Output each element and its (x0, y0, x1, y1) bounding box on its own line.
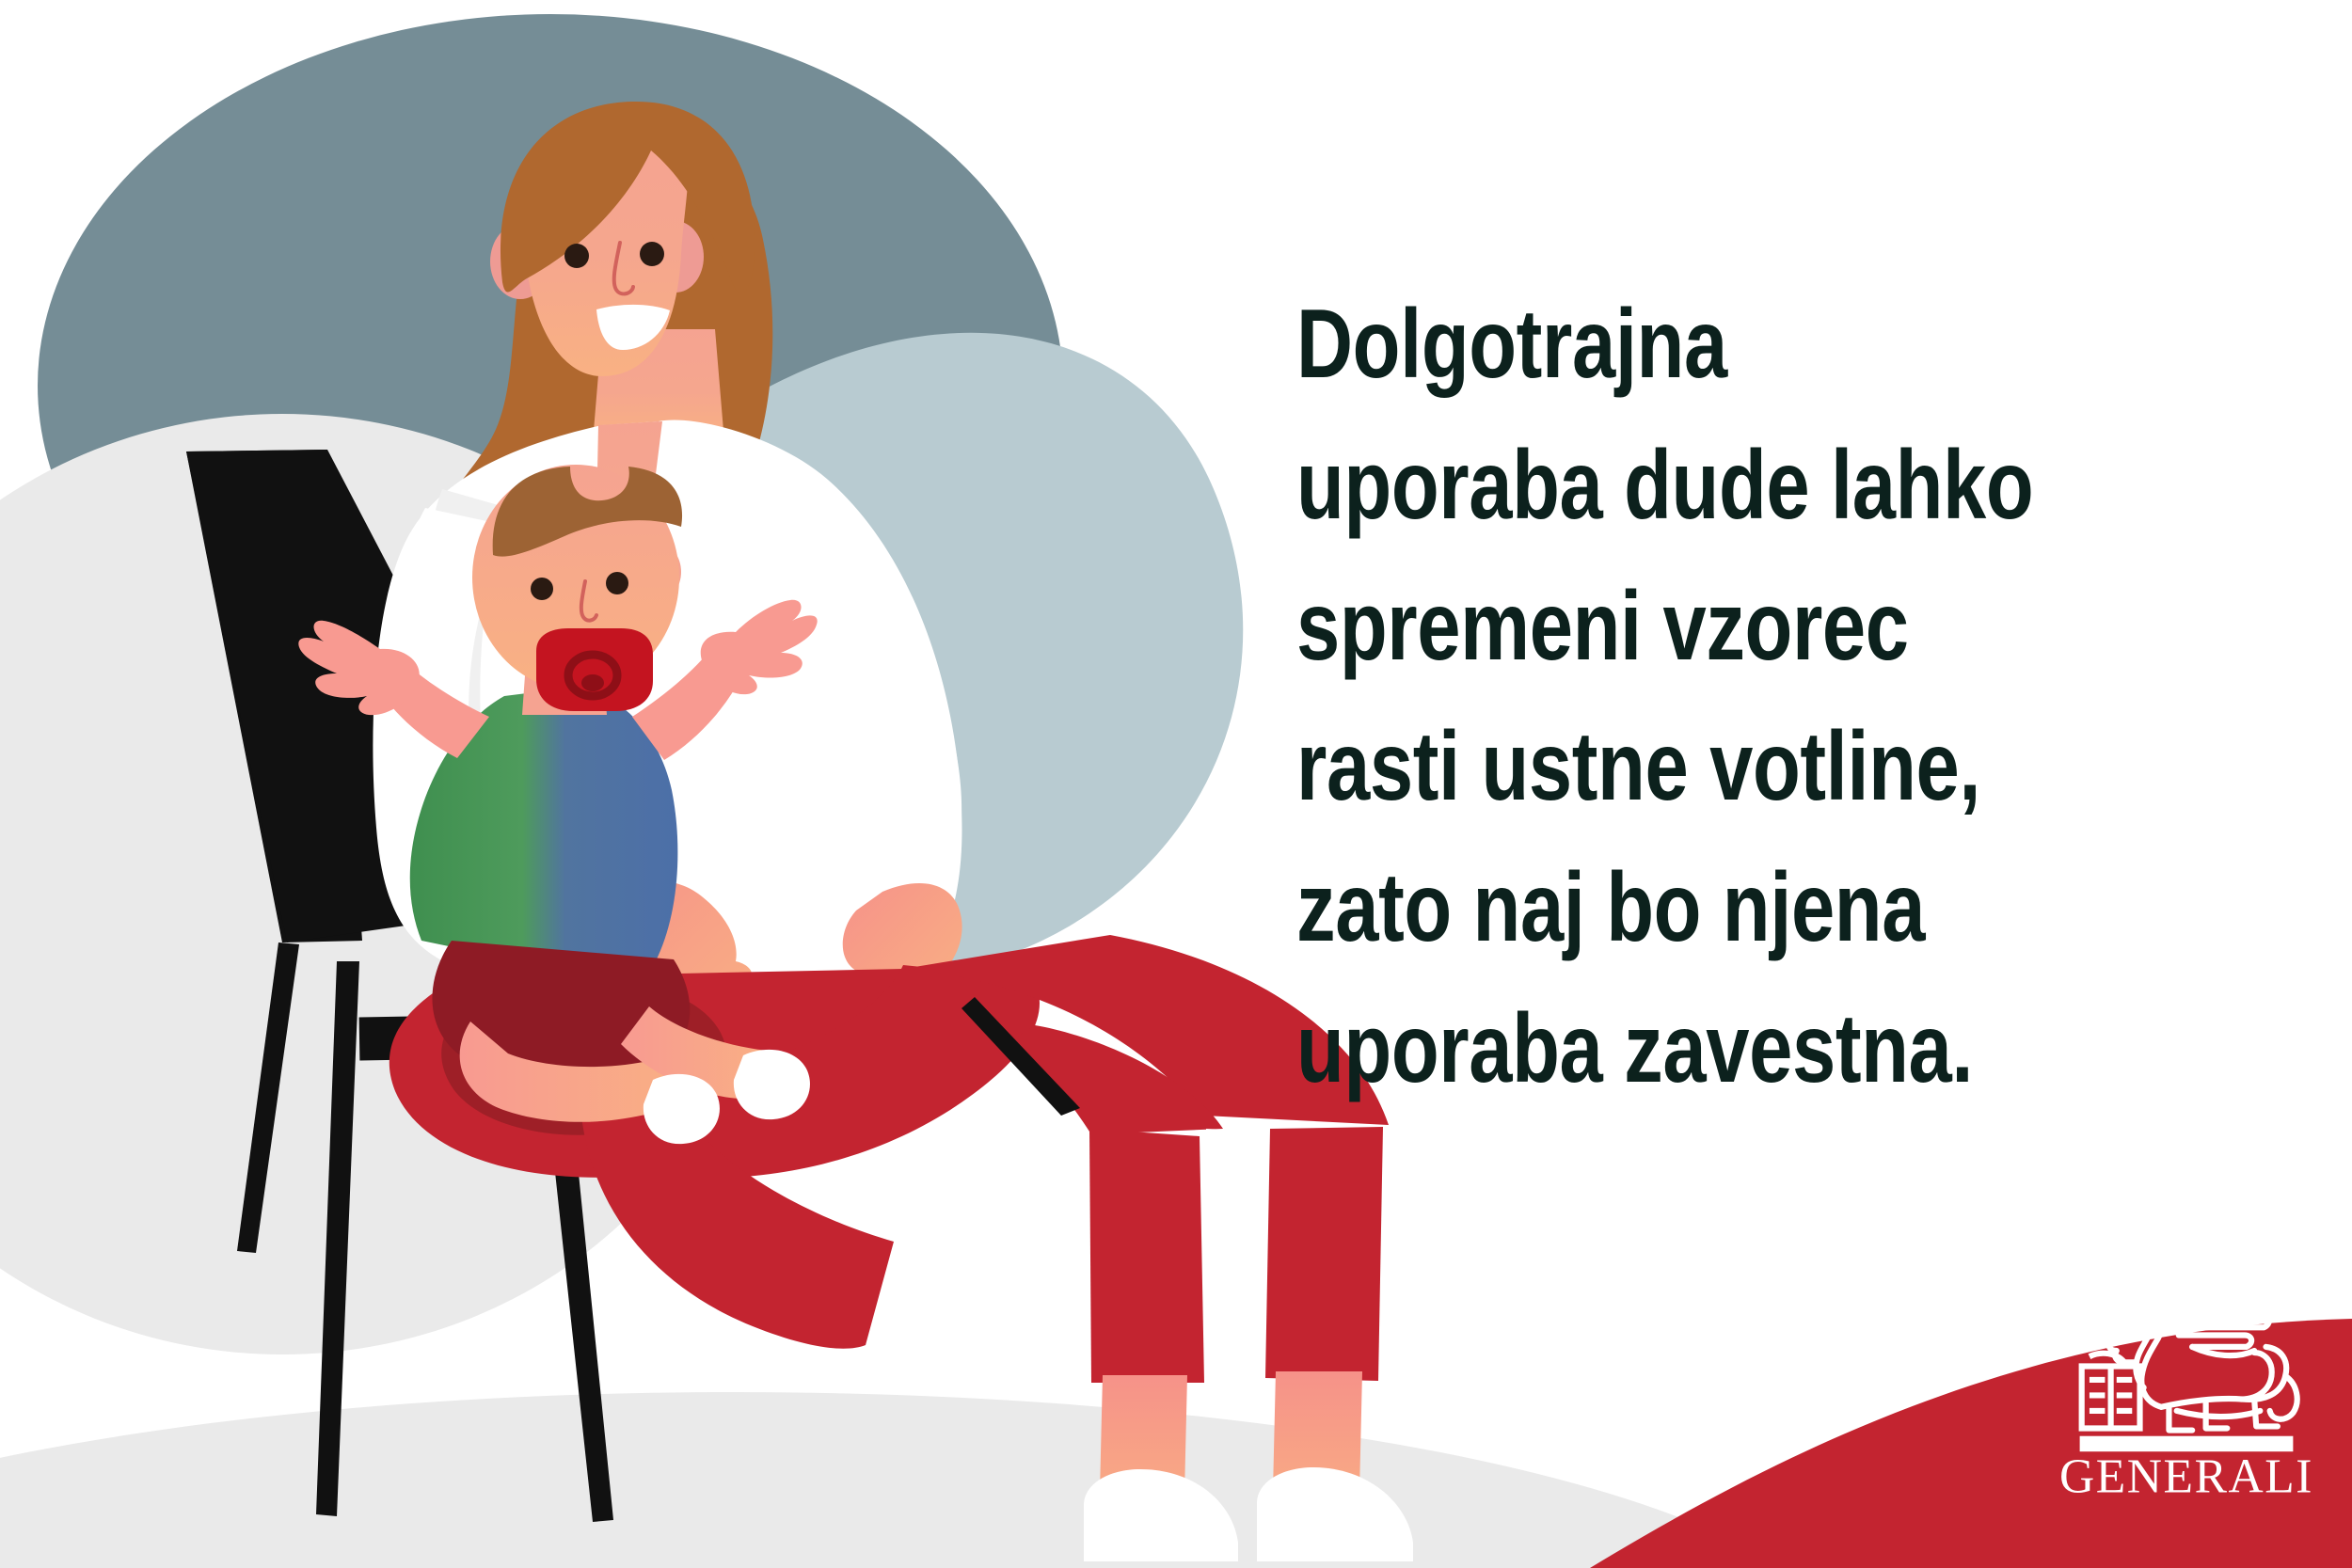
baby-eye-left (531, 578, 553, 600)
headline-line-3: spremeni vzorec (1296, 557, 2094, 698)
headline-text: Dolgotrajna uporaba dude lahko spremeni … (1296, 275, 2094, 1120)
baby-shoe-near (644, 1074, 720, 1144)
baby-shoe-far (734, 1050, 810, 1119)
mother-eye-right (640, 242, 664, 266)
pacifier-icon (536, 628, 653, 711)
mother-trouser-leg-right-lower (1265, 1127, 1383, 1381)
headline-line-5: zato naj bo njena (1296, 838, 2094, 979)
mother-trousers-gap (1206, 1129, 1264, 1381)
headline-line-4: rasti ustne votline, (1296, 697, 2094, 838)
headline-line-6: uporaba zavestna. (1296, 979, 2094, 1120)
mother-trouser-leg-left-lower (1089, 1129, 1204, 1383)
floor-shadow (0, 1392, 1844, 1568)
poster-canvas: Dolgotrajna uporaba dude lahko spremeni … (0, 0, 2352, 1568)
pacifier-nub (581, 674, 604, 691)
headline-line-2: uporaba dude lahko (1296, 416, 2094, 557)
headline-line-1: Dolgotrajna (1296, 275, 2094, 416)
baby-eye-right (606, 572, 628, 594)
mother-eye-left (564, 244, 589, 268)
